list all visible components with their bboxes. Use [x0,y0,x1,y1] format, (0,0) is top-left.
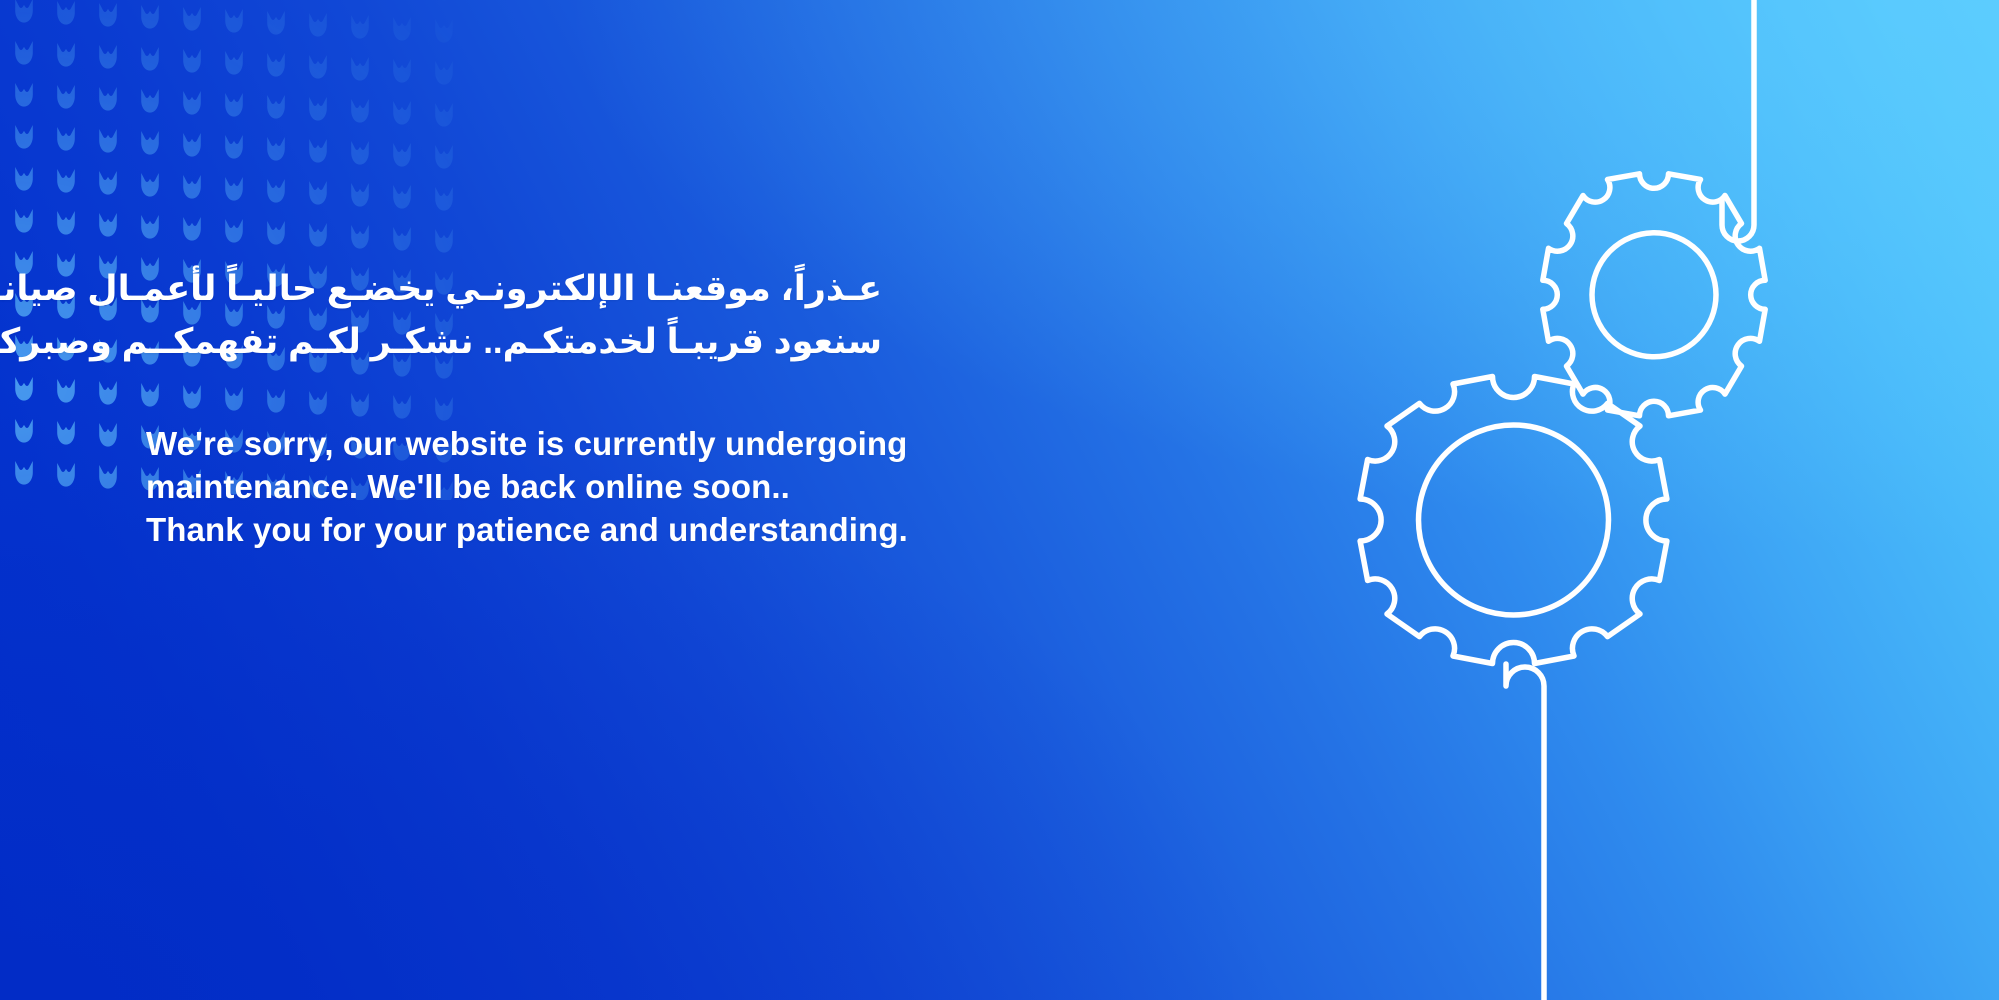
english-line-3: Thank you for your patience and understa… [146,508,1146,551]
maintenance-page: عـذراً، موقعنـا الإلكترونـي يخضـع حاليـا… [0,0,1999,1000]
arabic-line-2: سنعود قريبـاً لخدمتكـم.. نشكـر لكـم تفهم… [146,315,882,368]
arabic-message: عـذراً، موقعنـا الإلكترونـي يخضـع حاليـا… [146,262,882,368]
message-block: عـذراً، موقعنـا الإلكترونـي يخضـع حاليـا… [146,262,1146,551]
english-line-2: maintenance. We'll be back online soon.. [146,465,1146,508]
english-line-1: We're sorry, our website is currently un… [146,422,1146,465]
english-message: We're sorry, our website is currently un… [146,422,1146,551]
arabic-line-1: عـذراً، موقعنـا الإلكترونـي يخضـع حاليـا… [146,262,882,315]
